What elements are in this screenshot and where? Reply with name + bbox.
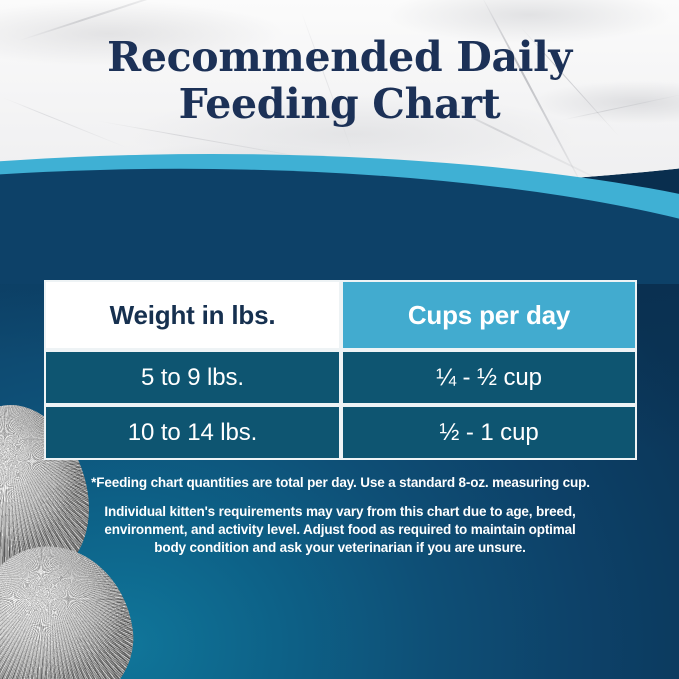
feeding-table: Weight in lbs. Cups per day 5 to 9 lbs. …: [44, 280, 637, 460]
disclaimer-line-2: environment, and activity level. Adjust …: [60, 521, 620, 539]
title-line-1: Recommended Daily: [0, 34, 679, 81]
table-header-row: Weight in lbs. Cups per day: [44, 280, 637, 350]
disclaimer-note: Individual kitten's requirements may var…: [60, 503, 620, 557]
table-row: 10 to 14 lbs. ½ - 1 cup: [44, 405, 637, 460]
fur-texture: [0, 536, 143, 679]
cell-weight-range: 5 to 9 lbs.: [44, 350, 341, 405]
disclaimer-line-1: Individual kitten's requirements may var…: [60, 503, 620, 521]
feeding-chart-page: Recommended Daily Feeding Chart Weight i…: [0, 0, 679, 679]
column-header-weight: Weight in lbs.: [44, 280, 341, 350]
title-line-2: Feeding Chart: [0, 81, 679, 128]
feeding-table-container: Weight in lbs. Cups per day 5 to 9 lbs. …: [44, 280, 637, 460]
cell-cups-amount: ½ - 1 cup: [341, 405, 637, 460]
table-row: 5 to 9 lbs. ¼ - ½ cup: [44, 350, 637, 405]
column-header-cups: Cups per day: [341, 280, 637, 350]
disclaimer-line-3: body condition and ask your veterinarian…: [60, 539, 620, 557]
page-title: Recommended Daily Feeding Chart: [0, 34, 679, 128]
cat-paw-icon: [0, 536, 143, 679]
table-header: Weight in lbs. Cups per day: [44, 280, 637, 350]
asterisk-note: *Feeding chart quantities are total per …: [44, 474, 637, 492]
cell-cups-amount: ¼ - ½ cup: [341, 350, 637, 405]
table-body: 5 to 9 lbs. ¼ - ½ cup 10 to 14 lbs. ½ - …: [44, 350, 637, 460]
cell-weight-range: 10 to 14 lbs.: [44, 405, 341, 460]
